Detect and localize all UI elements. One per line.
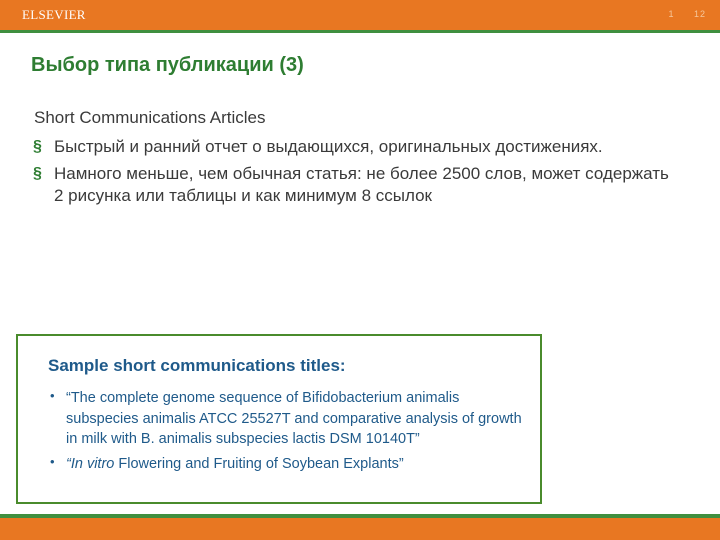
slide: ELSEVIER 1 12 Выбор типа публикации (3) … bbox=[0, 0, 720, 540]
top-header-bar: ELSEVIER 1 12 bbox=[0, 0, 720, 30]
bullet-list: § Быстрый и ранний отчет о выдающихся, о… bbox=[32, 136, 672, 208]
list-item: § Быстрый и ранний отчет о выдающихся, о… bbox=[32, 136, 672, 159]
page-number-group: 1 12 bbox=[668, 9, 706, 19]
list-item: • “The complete genome sequence of Bifid… bbox=[30, 388, 530, 450]
body-lead-text: Short Communications Articles bbox=[34, 108, 672, 128]
section-marker-icon: § bbox=[33, 163, 42, 184]
body-content: Short Communications Articles § Быстрый … bbox=[32, 108, 672, 212]
sample-box-title: Sample short communications titles: bbox=[48, 356, 346, 376]
sample-titles-list: • “The complete genome sequence of Bifid… bbox=[30, 388, 530, 478]
page-number-right: 12 bbox=[694, 9, 706, 19]
list-item-italic-text: “In vitro bbox=[66, 456, 114, 472]
list-item-text: Быстрый и ранний отчет о выдающихся, ори… bbox=[54, 137, 603, 156]
bottom-orange-bar bbox=[0, 518, 720, 540]
list-item: § Намного меньше, чем обычная статья: не… bbox=[32, 163, 672, 208]
list-item-text: “The complete genome sequence of Bifidob… bbox=[66, 390, 522, 447]
page-number-left: 1 bbox=[668, 9, 674, 19]
elsevier-logo: ELSEVIER bbox=[22, 7, 86, 23]
bullet-dot-icon: • bbox=[50, 453, 55, 471]
list-item-text: Flowering and Fruiting of Soybean Explan… bbox=[114, 456, 403, 472]
list-item: • “In vitro Flowering and Fruiting of So… bbox=[30, 454, 530, 475]
bullet-dot-icon: • bbox=[50, 387, 55, 405]
list-item-text: Намного меньше, чем обычная статья: не б… bbox=[54, 164, 669, 206]
sample-titles-box: Sample short communications titles: • “T… bbox=[16, 334, 542, 504]
section-marker-icon: § bbox=[33, 136, 42, 157]
page-title: Выбор типа публикации (3) bbox=[31, 54, 681, 77]
top-green-rule bbox=[0, 30, 720, 33]
